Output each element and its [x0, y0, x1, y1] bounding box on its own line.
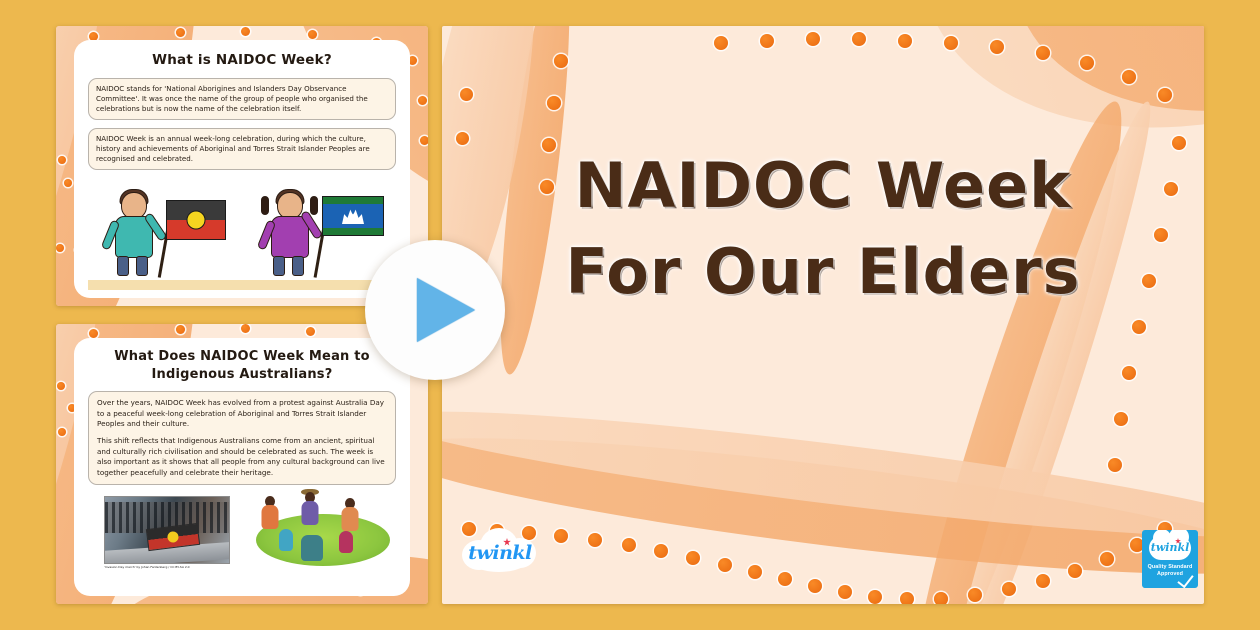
slide-thumbnail-2[interactable]: What Does NAIDOC Week Mean to Indigenous…: [56, 324, 428, 604]
decor-dot: [588, 533, 602, 547]
play-triangle-icon: [417, 278, 475, 342]
slide-content-card: What is NAIDOC Week? NAIDOC stands for '…: [74, 40, 410, 298]
slide-2-illustration: 'Invasion Day march' by Johan Fantenberg…: [90, 496, 394, 582]
torso: [339, 531, 353, 553]
decor-dot: [456, 132, 469, 145]
pigtail-left: [261, 196, 269, 215]
decor-dot: [718, 558, 732, 572]
girl-figure: [260, 192, 320, 280]
title-line-2: For Our Elders: [442, 234, 1204, 310]
decor-dot: [1100, 552, 1114, 566]
leg-left: [117, 256, 129, 276]
community-artwork: [250, 492, 396, 572]
decor-dot: [748, 565, 762, 579]
decor-dot: [420, 136, 428, 145]
decor-dot: [1036, 574, 1050, 588]
leg-right: [292, 256, 304, 276]
decor-dot: [1132, 320, 1146, 334]
decor-dot: [547, 96, 561, 110]
decor-dot: [1068, 564, 1082, 578]
decor-dot: [241, 324, 250, 333]
slide-2-paragraph-1: Over the years, NAIDOC Week has evolved …: [97, 398, 387, 429]
decor-dot: [554, 54, 568, 68]
slide-content-card: What Does NAIDOC Week Mean to Indigenous…: [74, 338, 410, 596]
badge-line-1: Quality Standard: [1142, 564, 1198, 570]
torso: [301, 535, 323, 561]
title-line-1: NAIDOC Week: [442, 148, 1204, 224]
decor-dot: [58, 428, 66, 436]
decor-dot: [1080, 56, 1094, 70]
decor-dot: [990, 40, 1004, 54]
twinkl-cloud-logo: twinkl: [458, 524, 542, 574]
decor-dot: [57, 382, 65, 390]
leg-left: [273, 256, 285, 276]
decor-dot: [686, 551, 700, 565]
decor-dot: [934, 592, 948, 604]
decor-dot: [176, 28, 185, 37]
decor-dot: [89, 329, 98, 338]
decor-dot: [241, 27, 250, 36]
twinkl-wordmark: twinkl: [458, 542, 542, 564]
torso: [279, 529, 293, 551]
pigtail-right: [310, 196, 318, 215]
slide-2-title-line-2: Indigenous Australians?: [152, 367, 333, 382]
torso: [302, 501, 319, 525]
decor-dot: [58, 156, 66, 164]
play-button[interactable]: [365, 240, 505, 380]
decor-dot: [1122, 366, 1136, 380]
decor-dot: [308, 30, 317, 39]
decor-dot: [760, 34, 774, 48]
photo-caption: 'Invasion Day march' by Johan Fantenberg…: [104, 566, 254, 570]
slide-1-textbox-1: NAIDOC stands for 'National Aborigines a…: [88, 78, 396, 120]
decor-dot: [852, 32, 866, 46]
decor-dot: [1114, 412, 1128, 426]
decor-dot: [460, 88, 473, 101]
decor-dot: [1108, 458, 1122, 472]
decor-dot: [944, 36, 958, 50]
decor-dot: [868, 590, 882, 604]
flag-sun: [187, 211, 206, 230]
slide-1-textbox-2: NAIDOC Week is an annual week-long celeb…: [88, 128, 396, 170]
slide-2-textbox: Over the years, NAIDOC Week has evolved …: [88, 391, 396, 485]
slide-2-title-line-1: What Does NAIDOC Week Mean to: [114, 349, 370, 364]
torso: [271, 216, 309, 258]
torso: [262, 505, 279, 529]
head: [277, 192, 303, 219]
decor-dot: [898, 34, 912, 48]
decor-dot: [1002, 582, 1016, 596]
decor-dot: [714, 36, 728, 50]
slide-1-illustration: [88, 190, 396, 298]
protest-march-photo: [104, 496, 230, 564]
decor-dot: [554, 529, 568, 543]
decor-dot: [176, 325, 185, 334]
slide-2-title: What Does NAIDOC Week Mean to Indigenous…: [88, 348, 396, 383]
twinkl-wordmark: twinkl: [1142, 541, 1198, 554]
slide-2-paragraph-2: This shift reflects that Indigenous Aust…: [97, 436, 387, 478]
torso: [342, 507, 359, 531]
decor-dot: [306, 327, 315, 336]
decor-dot: [806, 32, 820, 46]
decor-dot: [56, 244, 64, 252]
page-title: NAIDOC Week For Our Elders: [442, 148, 1204, 309]
decor-dot: [654, 544, 668, 558]
decor-dot: [900, 592, 914, 604]
decor-dot: [1122, 70, 1136, 84]
decor-dot: [838, 585, 852, 599]
decor-dot: [418, 96, 427, 105]
decor-dot: [622, 538, 636, 552]
flag-sun: [167, 531, 179, 543]
boy-figure: [104, 192, 164, 280]
decor-dot: [64, 179, 72, 187]
decor-dot: [1158, 88, 1172, 102]
ground-line: [88, 280, 396, 290]
main-slide-preview[interactable]: NAIDOC Week For Our Elders: [442, 26, 1204, 604]
slide-1-paragraph-1: NAIDOC stands for 'National Aborigines a…: [96, 84, 388, 114]
decor-dot: [1036, 46, 1050, 60]
aboriginal-flag: [166, 200, 226, 240]
slide-thumbnail-1[interactable]: What is NAIDOC Week? NAIDOC stands for '…: [56, 26, 428, 306]
decor-dot: [778, 572, 792, 586]
slide-1-paragraph-2: NAIDOC Week is an annual week-long celeb…: [96, 134, 388, 164]
torres-strait-islander-flag: [322, 196, 384, 236]
decor-dot: [808, 579, 822, 593]
quality-standard-badge: twinkl Quality Standard Approved: [1142, 530, 1198, 588]
head: [121, 192, 147, 219]
decor-dot: [968, 588, 982, 602]
slide-1-title: What is NAIDOC Week?: [84, 52, 400, 68]
leg-right: [136, 256, 148, 276]
